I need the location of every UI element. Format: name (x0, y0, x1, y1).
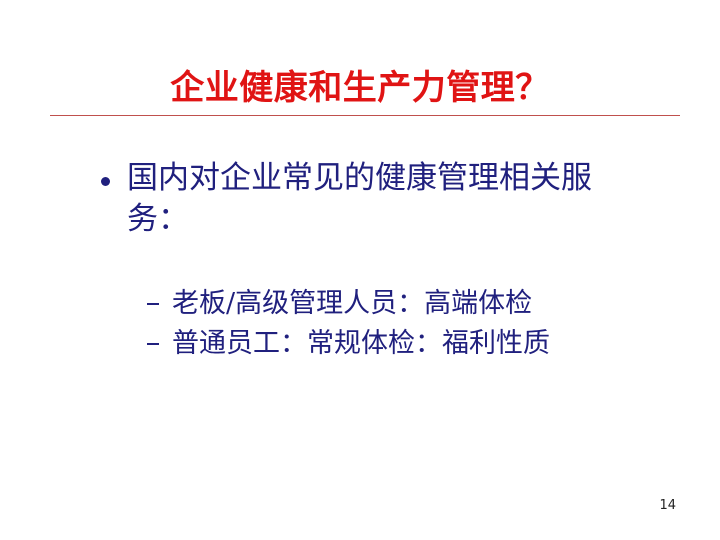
bullet-level2-item: 老板/高级管理人员：高端体检 (147, 286, 665, 322)
bullet-level2-item: 普通员工：常规体检：福利性质 (147, 326, 665, 362)
title-divider-rule (50, 115, 680, 116)
bullet-dash-icon (147, 303, 159, 305)
bullet-level2-label: 普通员工：常规体检：福利性质 (172, 328, 550, 359)
bullet-level2-label: 老板/高级管理人员：高端体检 (172, 288, 532, 319)
bullet-level1-item: 国内对企业常见的健康管理相关服务： (95, 158, 665, 240)
slide-page-number: 14 (659, 498, 676, 514)
bullet-dash-icon (147, 343, 159, 345)
bullet-level1-label: 国内对企业常见的健康管理相关服务： (127, 158, 643, 240)
slide-canvas: 企业健康和生产力管理？ 国内对企业常见的健康管理相关服务： 老板/高级管理人员：… (0, 0, 720, 540)
bullet-dot-icon (101, 177, 110, 186)
bullet-level2-group: 老板/高级管理人员：高端体检 普通员工：常规体检：福利性质 (95, 286, 665, 362)
slide-body: 国内对企业常见的健康管理相关服务： 老板/高级管理人员：高端体检 普通员工：常规… (95, 158, 665, 362)
slide-title: 企业健康和生产力管理？ (50, 66, 670, 110)
